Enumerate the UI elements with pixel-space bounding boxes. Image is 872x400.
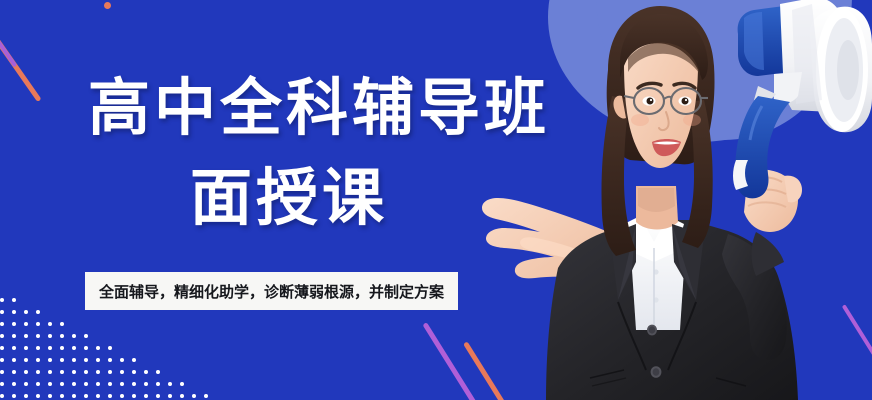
subtitle-bar: 全面辅导，精细化助学，诊断薄弱根源，并制定方案 <box>85 272 458 310</box>
promo-banner: 高中全科辅导班 面授课 全面辅导，精细化助学，诊断薄弱根源，并制定方案 <box>0 0 872 400</box>
text-block: 高中全科辅导班 面授课 全面辅导，精细化助学，诊断薄弱根源，并制定方案 <box>0 0 480 400</box>
subtitle-text: 全面辅导，精细化助学，诊断薄弱根源，并制定方案 <box>99 281 444 302</box>
headline-line-1: 高中全科辅导班 <box>88 72 550 146</box>
megaphone-icon <box>733 0 872 198</box>
orange-accent-dot <box>104 2 111 9</box>
headline-line-2: 面授课 <box>190 162 388 236</box>
person-illustration <box>440 0 872 400</box>
